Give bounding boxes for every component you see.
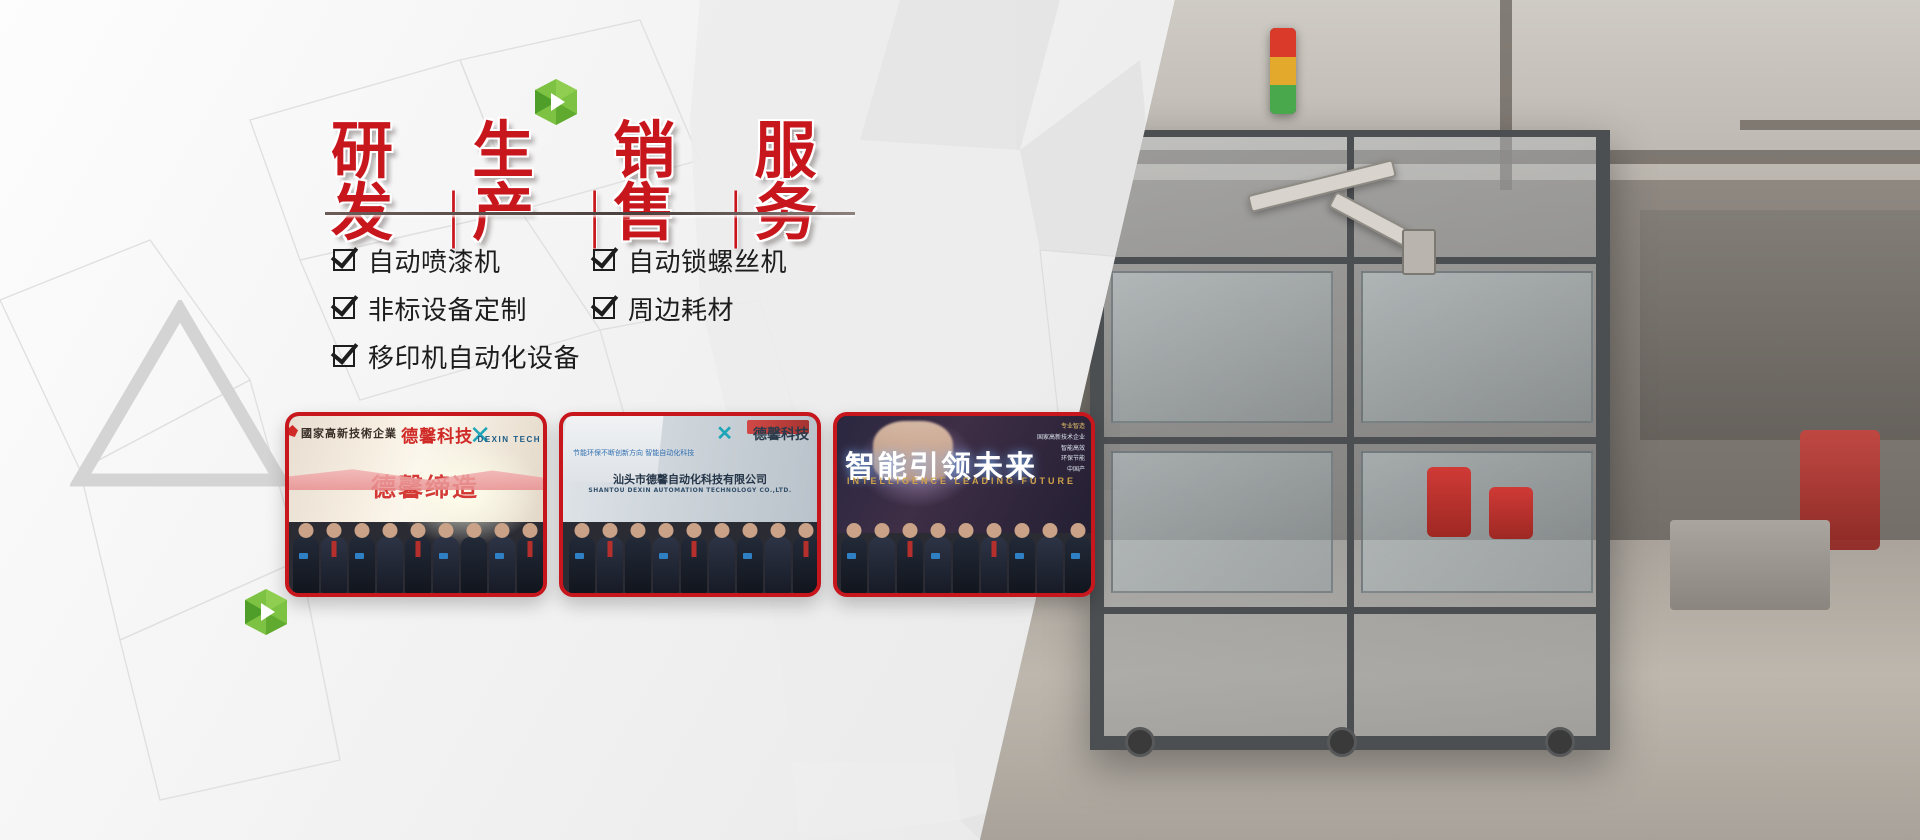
feature-label: 周边耗材 xyxy=(628,290,734,327)
headline-block: 研发 | 生产 | 销售 | 服务 xyxy=(325,120,865,244)
feature-label: 自动喷漆机 xyxy=(368,242,501,279)
thumb-smart-future[interactable]: 智能引领未来 INTELLIGENCE LEADING FUTURE 专业智造 … xyxy=(833,412,1095,597)
decor-triangle-outline xyxy=(70,300,290,495)
photo-thumbnail-strip: 國家高新技術企業 ✕ 德馨科技 DEXIN TECH 德馨缔造 xyxy=(285,412,1095,597)
feature-label: 移印机自动化设备 xyxy=(368,338,580,375)
checkbox-checked-icon xyxy=(333,297,355,319)
thumb2-side-text: 节能环保不断创新方向 智能自动化科技 xyxy=(573,448,694,460)
thumb1-top-text: 國家高新技術企業 xyxy=(301,425,397,441)
thumb-exhibition-booth[interactable]: 國家高新技術企業 ✕ 德馨科技 DEXIN TECH 德馨缔造 xyxy=(285,412,547,597)
page-title: 研发 | 生产 | 销售 | 服务 xyxy=(325,120,865,244)
green-hexagon-play-icon-small xyxy=(243,588,289,636)
team-group-photo xyxy=(563,515,817,593)
feature-label: 非标设备定制 xyxy=(368,290,527,327)
headline-word-1: 研发 xyxy=(325,120,442,244)
feature-list: 自动喷漆机 自动锁螺丝机 非标设备定制 周边耗材 移印机自动化设备 xyxy=(333,236,853,380)
headline-word-2: 生产 xyxy=(466,120,583,244)
thumb2-company-cn: 汕头市德馨自动化科技有限公司 xyxy=(613,473,767,486)
headline-word-4: 服务 xyxy=(748,120,865,244)
thumb-company-lobby[interactable]: ✕ 德馨科技 节能环保不断创新方向 智能自动化科技 汕头市德馨自动化科技有限公司… xyxy=(559,412,821,597)
thumb1-brand-en: DEXIN TECH xyxy=(478,435,541,444)
thumb3-headline-en: INTELLIGENCE LEADING FUTURE xyxy=(847,476,1076,486)
x-logo-icon: ✕ xyxy=(716,421,733,446)
list-item: 自动锁螺丝机 xyxy=(593,236,853,284)
checkbox-checked-icon xyxy=(333,249,355,271)
list-item: 自动喷漆机 xyxy=(333,236,593,284)
thumb3-note-1: 国家高新技术企业 xyxy=(1037,433,1085,444)
thumb3-note-2: 智能高效 xyxy=(1037,444,1085,455)
thumb3-note-3: 环保节能 xyxy=(1037,454,1085,465)
checkbox-checked-icon xyxy=(333,345,355,367)
promotional-banner: 研发 | 生产 | 销售 | 服务 自动喷漆机 自动锁螺丝机 非标设备定制 周边… xyxy=(0,0,1920,840)
checkbox-checked-icon xyxy=(593,249,615,271)
machine-frame xyxy=(1090,130,1610,750)
thumb3-note-4: 中国产 xyxy=(1037,465,1085,476)
list-item: 周边耗材 xyxy=(593,284,853,332)
list-item: 非标设备定制 xyxy=(333,284,593,332)
thumb2-company-en: SHANTOU DEXIN AUTOMATION TECHNOLOGY CO.,… xyxy=(563,487,817,494)
green-hexagon-play-icon xyxy=(533,78,579,126)
headline-divider xyxy=(325,212,855,215)
headline-word-3: 销售 xyxy=(607,120,724,244)
list-item: 移印机自动化设备 xyxy=(333,332,853,380)
team-group-photo xyxy=(289,515,543,593)
thumb2-banner-cn: 德馨科技 xyxy=(753,424,809,444)
thumb1-brand-cn: 德馨科技 xyxy=(401,427,473,447)
team-group-photo xyxy=(837,515,1091,593)
flame-icon xyxy=(287,425,298,437)
status-tower-light xyxy=(1270,28,1296,114)
checkbox-checked-icon xyxy=(593,297,615,319)
feature-label: 自动锁螺丝机 xyxy=(628,242,787,279)
thumb3-note-0: 专业智造 xyxy=(1037,422,1085,433)
